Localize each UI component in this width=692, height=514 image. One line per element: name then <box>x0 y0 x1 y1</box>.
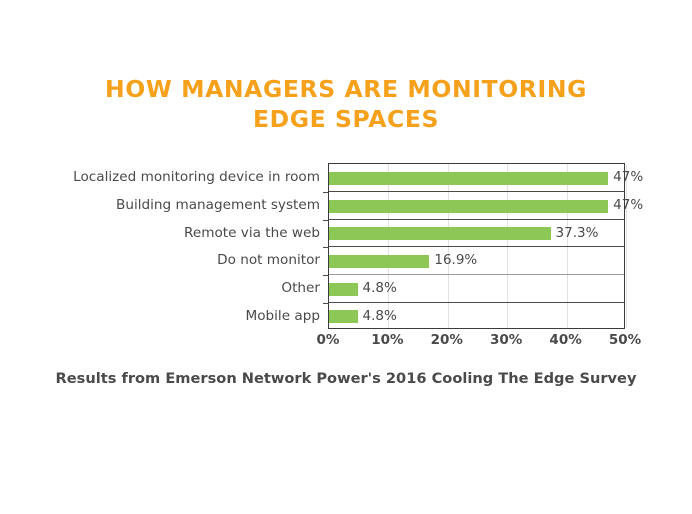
category-label: Do not monitor <box>50 253 320 267</box>
bar-value-label: 4.8% <box>363 282 397 296</box>
y-axis-tick-mark <box>323 303 329 304</box>
x-axis-tick-labels: 0%10%20%30%40%50% <box>328 332 625 352</box>
bar-value-label: 47% <box>613 171 643 185</box>
category-label: Remote via the web <box>50 226 320 240</box>
category-axis-labels: Localized monitoring device in roomBuild… <box>48 163 320 329</box>
category-label: Building management system <box>50 198 320 212</box>
bar-row: 37.3% <box>329 220 624 247</box>
x-axis-tick-label: 50% <box>609 332 641 348</box>
bar-value-label: 37.3% <box>556 227 599 241</box>
bar <box>329 200 608 213</box>
bar-value-label: 4.8% <box>363 310 397 324</box>
y-axis-tick-mark <box>323 247 329 248</box>
bar-value-label: 47% <box>613 199 643 213</box>
bar <box>329 172 608 185</box>
y-axis-tick-mark <box>323 275 329 276</box>
x-axis-tick-label: 10% <box>371 332 403 348</box>
gridline-vertical <box>626 164 627 328</box>
bar-row: 16.9% <box>329 247 624 275</box>
x-axis-tick-label: 0% <box>317 332 340 348</box>
bar-row: 4.8% <box>329 303 624 330</box>
bar <box>329 255 429 268</box>
chart-title-line-2: EDGE SPACES <box>60 104 632 134</box>
category-label: Other <box>50 281 320 295</box>
chart-title-line-1: HOW MANAGERS ARE MONITORING <box>60 74 632 104</box>
plot-area: 47%47%37.3%16.9%4.8%4.8% <box>328 163 625 329</box>
y-axis-tick-mark <box>323 220 329 221</box>
chart-caption: Results from Emerson Network Power's 201… <box>0 369 692 389</box>
bar-value-label: 16.9% <box>434 254 477 268</box>
x-axis-tick-label: 40% <box>549 332 581 348</box>
bar <box>329 310 358 323</box>
chart-title: HOW MANAGERS ARE MONITORING EDGE SPACES <box>60 74 632 134</box>
bar <box>329 283 358 296</box>
bar <box>329 227 551 240</box>
category-label: Mobile app <box>50 309 320 323</box>
y-axis-tick-mark <box>323 192 329 193</box>
category-label: Localized monitoring device in room <box>50 170 320 184</box>
bar-row: 47% <box>329 192 624 220</box>
x-axis-tick-label: 30% <box>490 332 522 348</box>
bar-row: 4.8% <box>329 275 624 303</box>
chart-figure: HOW MANAGERS ARE MONITORING EDGE SPACES … <box>0 0 692 514</box>
bar-row: 47% <box>329 164 624 192</box>
x-axis-tick-label: 20% <box>431 332 463 348</box>
bar-rows: 47%47%37.3%16.9%4.8%4.8% <box>329 164 624 328</box>
